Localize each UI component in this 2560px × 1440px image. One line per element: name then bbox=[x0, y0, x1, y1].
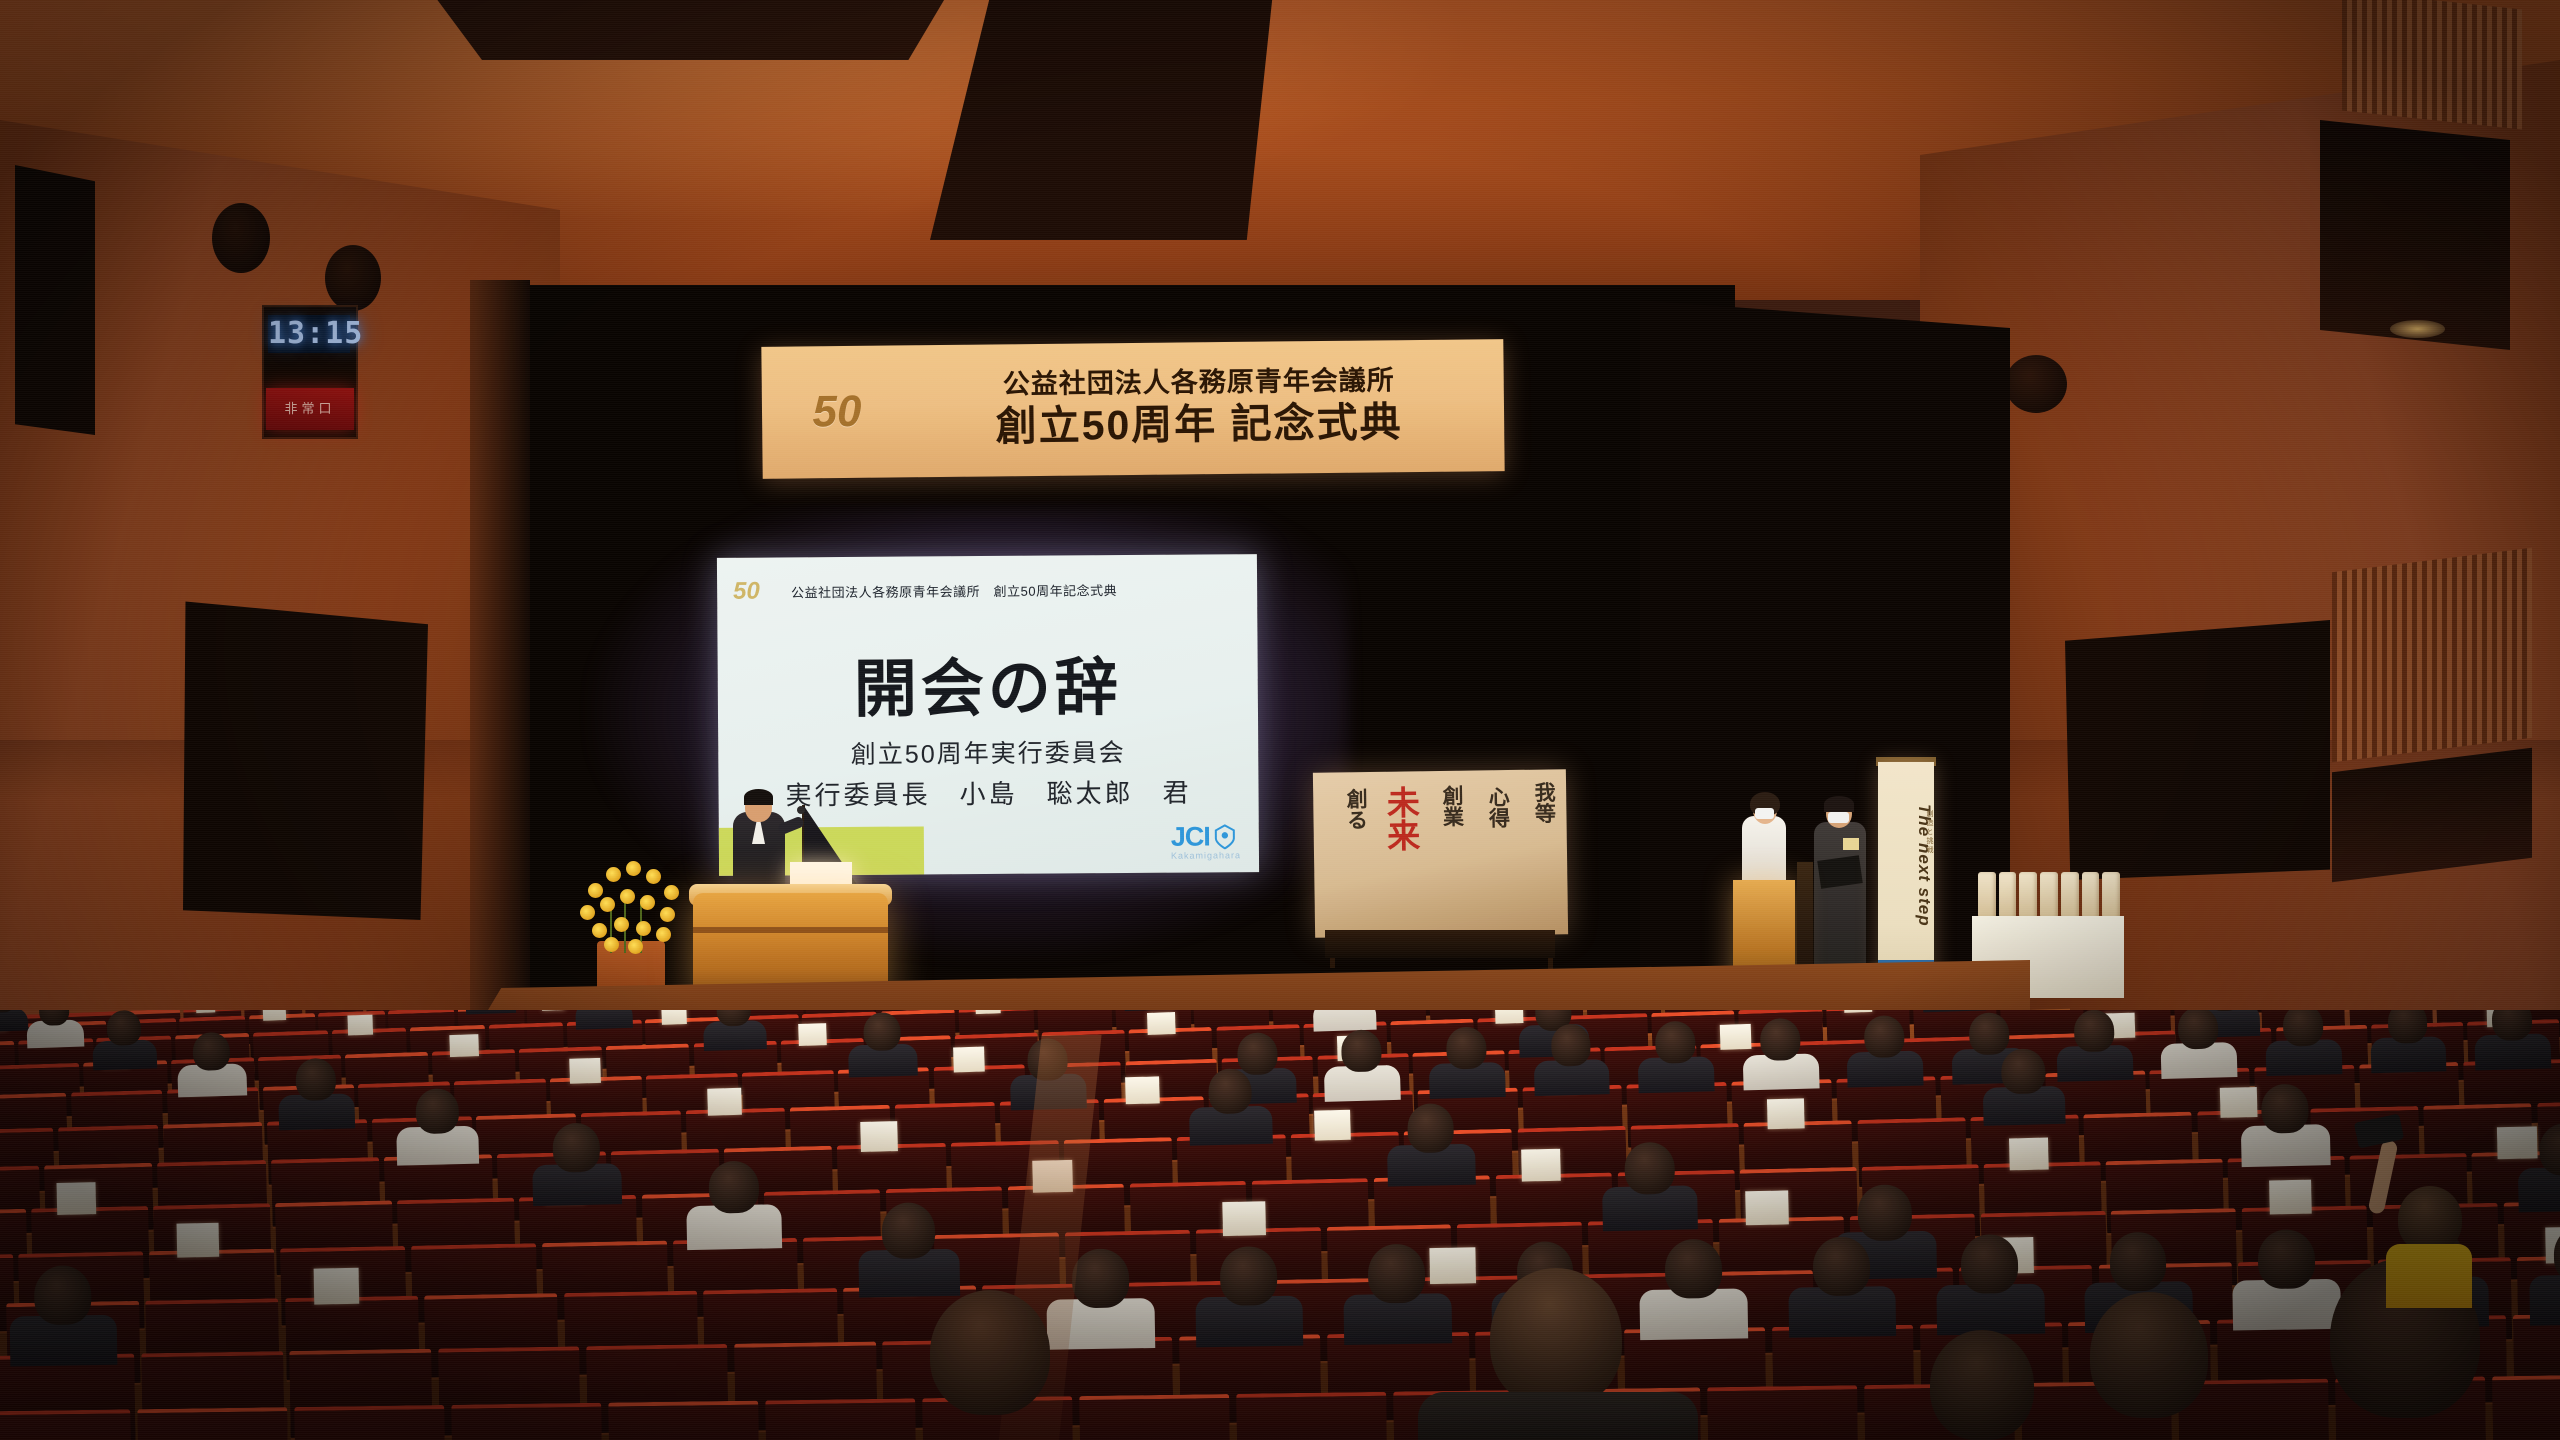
calligraphy-text-3: 心得 bbox=[1487, 786, 1509, 828]
auditorium-photo: 13:15 非常口 50 公益社団法人各務原青年会議所 創立50周年 記念式典 … bbox=[0, 0, 2560, 1440]
acoustic-panel-left-lower bbox=[178, 595, 428, 920]
attendee-head bbox=[1368, 1244, 1426, 1304]
acoustic-slats-lower-right bbox=[2332, 548, 2532, 763]
stage-title-banner: 50 公益社団法人各務原青年会議所 創立50周年 記念式典 bbox=[761, 339, 1504, 479]
stage-banner-line-2: 創立50周年 記念式典 bbox=[912, 397, 1486, 452]
seat[interactable] bbox=[137, 1407, 288, 1440]
attendee-head bbox=[2491, 1010, 2532, 1041]
vertical-banner: The next step 創造と挑戦 JCI Kakamigahara bbox=[1878, 762, 1934, 994]
attendee-head bbox=[2387, 1010, 2428, 1044]
seat[interactable] bbox=[1079, 1394, 1230, 1440]
attendee-head bbox=[295, 1058, 336, 1101]
attendee-head bbox=[1624, 1142, 1675, 1195]
acoustic-slats-upper-right bbox=[2342, 0, 2522, 129]
attendee-head bbox=[1665, 1239, 1723, 1299]
certificate-scroll bbox=[2019, 872, 2037, 918]
attendee-head bbox=[709, 1161, 760, 1214]
seat-name-card bbox=[1430, 1247, 1476, 1284]
seat-name-card bbox=[57, 1182, 97, 1214]
acoustic-panel-right bbox=[2065, 620, 2330, 880]
calligraphy-red-text: 未来 bbox=[1385, 785, 1417, 851]
seat-name-card bbox=[195, 1010, 215, 1014]
podium-trim bbox=[693, 927, 888, 933]
seat-name-card bbox=[2009, 1137, 2049, 1169]
attendee-shoulders bbox=[1312, 1010, 1376, 1032]
slide-header-row: 50 公益社団法人各務原青年会議所 創立50周年記念式典 bbox=[717, 574, 1257, 606]
attendee-head bbox=[2109, 1232, 2167, 1292]
ceiling-recess-left bbox=[430, 0, 950, 60]
attendee-head bbox=[1208, 1068, 1252, 1114]
attendee-head bbox=[2073, 1010, 2114, 1052]
seat-name-card bbox=[347, 1015, 373, 1036]
seat-name-card bbox=[1314, 1110, 1351, 1140]
attendee-head bbox=[107, 1011, 141, 1047]
seat[interactable] bbox=[608, 1401, 759, 1440]
seat[interactable] bbox=[2492, 1374, 2560, 1440]
slide-jci-logo: JCI Kakamigahara bbox=[1171, 821, 1241, 860]
attendee-head bbox=[553, 1123, 601, 1173]
vertical-banner-subline: 創造と挑戦 bbox=[1878, 810, 1934, 855]
speaker-icon-left-a bbox=[212, 203, 270, 273]
attendee-head bbox=[2002, 1049, 2046, 1095]
face-mask-icon-man bbox=[1828, 812, 1849, 823]
attendee-head bbox=[1236, 1032, 1277, 1075]
seat-name-card bbox=[1495, 1010, 1524, 1024]
seat-name-card bbox=[974, 1010, 1000, 1014]
seat-name-card bbox=[449, 1034, 478, 1057]
anniversary-50-logo-icon: 50 bbox=[761, 361, 912, 463]
wall-clock-display: 13:15 bbox=[268, 315, 350, 353]
seat-name-card bbox=[314, 1268, 360, 1305]
stage-banner-line-1: 公益社団法人各務原青年会議所 bbox=[912, 364, 1486, 401]
staff-woman-body bbox=[1742, 816, 1786, 886]
calligraphy-text-1: 創る bbox=[1345, 788, 1367, 830]
staff-folder bbox=[1817, 855, 1862, 889]
speaker-hair bbox=[744, 789, 773, 805]
seat-name-card bbox=[1767, 1099, 1804, 1129]
attendee-head bbox=[2261, 1084, 2309, 1134]
seat[interactable] bbox=[294, 1405, 445, 1440]
sunflower-arrangement bbox=[570, 855, 692, 955]
attendee-head bbox=[1550, 1024, 1591, 1067]
jci-wordmark: JCI bbox=[1171, 821, 1210, 852]
certificate-scroll bbox=[1999, 872, 2017, 918]
calligraphy-text-2: 創業 bbox=[1441, 785, 1463, 827]
attendee-shoulders bbox=[0, 1010, 28, 1032]
attendee-head bbox=[2282, 1010, 2323, 1046]
jci-chapter-name: Kakamigahara bbox=[1171, 850, 1241, 860]
seat-name-card bbox=[1146, 1012, 1175, 1035]
seat-name-card bbox=[1720, 1025, 1752, 1051]
attendee-shoulders bbox=[575, 1010, 633, 1030]
emergency-exit-sign: 非常口 bbox=[266, 388, 354, 430]
seat-name-card bbox=[798, 1023, 827, 1046]
seat-name-card bbox=[1843, 1010, 1872, 1013]
slide-subtitle-committee: 創立50周年実行委員会 bbox=[718, 732, 1258, 772]
speaker-icon-left-b bbox=[325, 245, 381, 311]
seat[interactable] bbox=[1236, 1392, 1387, 1440]
attendee-head bbox=[1341, 1030, 1382, 1073]
attendee-head bbox=[2258, 1229, 2316, 1289]
seat-name-card bbox=[953, 1047, 985, 1073]
seat-name-card bbox=[706, 1088, 741, 1116]
acoustic-panel-left-upper bbox=[15, 165, 95, 435]
attendee-head bbox=[1813, 1236, 1871, 1296]
certificate-scroll bbox=[2082, 872, 2100, 918]
calligraphy-easel bbox=[1325, 930, 1555, 958]
attendee-head bbox=[1968, 1012, 2009, 1055]
slide-anniversary-logo-icon: 50 bbox=[733, 577, 791, 605]
seat-name-card bbox=[861, 1122, 898, 1152]
control-booth bbox=[2320, 120, 2510, 350]
seat[interactable] bbox=[451, 1403, 602, 1440]
seat-name-card bbox=[569, 1059, 601, 1085]
attendee-head bbox=[1858, 1185, 1912, 1241]
staff-name-badge bbox=[1843, 838, 1859, 850]
seat[interactable] bbox=[1707, 1385, 1858, 1440]
calligraphy-text-4: 我等 bbox=[1533, 781, 1555, 823]
attendee-head bbox=[1654, 1021, 1695, 1064]
attendee-head bbox=[881, 1203, 935, 1259]
attendee-head bbox=[34, 1265, 92, 1325]
seat-name-card bbox=[2269, 1180, 2312, 1215]
seat-name-card bbox=[1746, 1191, 1789, 1226]
certificate-scrolls bbox=[1978, 872, 2120, 918]
seat-name-card bbox=[2221, 1088, 2258, 1118]
attendee-shoulders bbox=[2529, 1274, 2560, 1326]
seat-name-card bbox=[263, 1010, 286, 1020]
seat-name-card bbox=[177, 1223, 220, 1258]
calligraphy-artwork: 我等 心得 創業 未来 創る bbox=[1313, 769, 1568, 938]
seat-name-card bbox=[1223, 1202, 1266, 1237]
slide-header-text: 公益社団法人各務原青年会議所 創立50周年記念式典 bbox=[791, 580, 1117, 601]
certificate-scroll bbox=[2102, 872, 2120, 918]
attendee-head bbox=[1864, 1015, 1905, 1058]
jci-pin-icon bbox=[1214, 824, 1236, 849]
seat-name-card bbox=[2497, 1126, 2537, 1158]
microphone-icon bbox=[797, 806, 805, 814]
face-mask-icon-woman bbox=[1755, 808, 1774, 819]
certificate-scroll bbox=[2061, 872, 2079, 918]
seat-name-card bbox=[1521, 1149, 1561, 1181]
staff-man-hair bbox=[1824, 796, 1854, 812]
seat[interactable] bbox=[765, 1398, 916, 1440]
seat-name-card bbox=[1125, 1077, 1160, 1105]
certificate-scroll bbox=[2040, 872, 2058, 918]
seat[interactable] bbox=[0, 1409, 132, 1440]
stage-banner-text: 公益社団法人各務原青年会議所 創立50周年 記念式典 bbox=[912, 364, 1505, 452]
attendee-head bbox=[192, 1032, 230, 1071]
proscenium-left bbox=[470, 280, 530, 1020]
slide-title: 開会の辞 bbox=[717, 636, 1258, 731]
attendee-head bbox=[2177, 1010, 2218, 1049]
certificate-scroll bbox=[1978, 872, 1996, 918]
attendee-head bbox=[863, 1012, 901, 1051]
attendee-head bbox=[1759, 1018, 1800, 1061]
attendee-head bbox=[1445, 1027, 1486, 1070]
attendee-shoulders bbox=[1922, 1010, 1986, 1013]
booth-lamp-icon bbox=[2390, 320, 2445, 338]
attendee-shoulders bbox=[465, 1010, 516, 1014]
seat-name-card bbox=[661, 1010, 687, 1025]
speaker-icon-right-b bbox=[2005, 355, 2067, 413]
attendee-head bbox=[1220, 1246, 1278, 1306]
attendee-head bbox=[1961, 1234, 2019, 1294]
attendee-head bbox=[1072, 1248, 1130, 1308]
attendee-head bbox=[415, 1088, 459, 1134]
